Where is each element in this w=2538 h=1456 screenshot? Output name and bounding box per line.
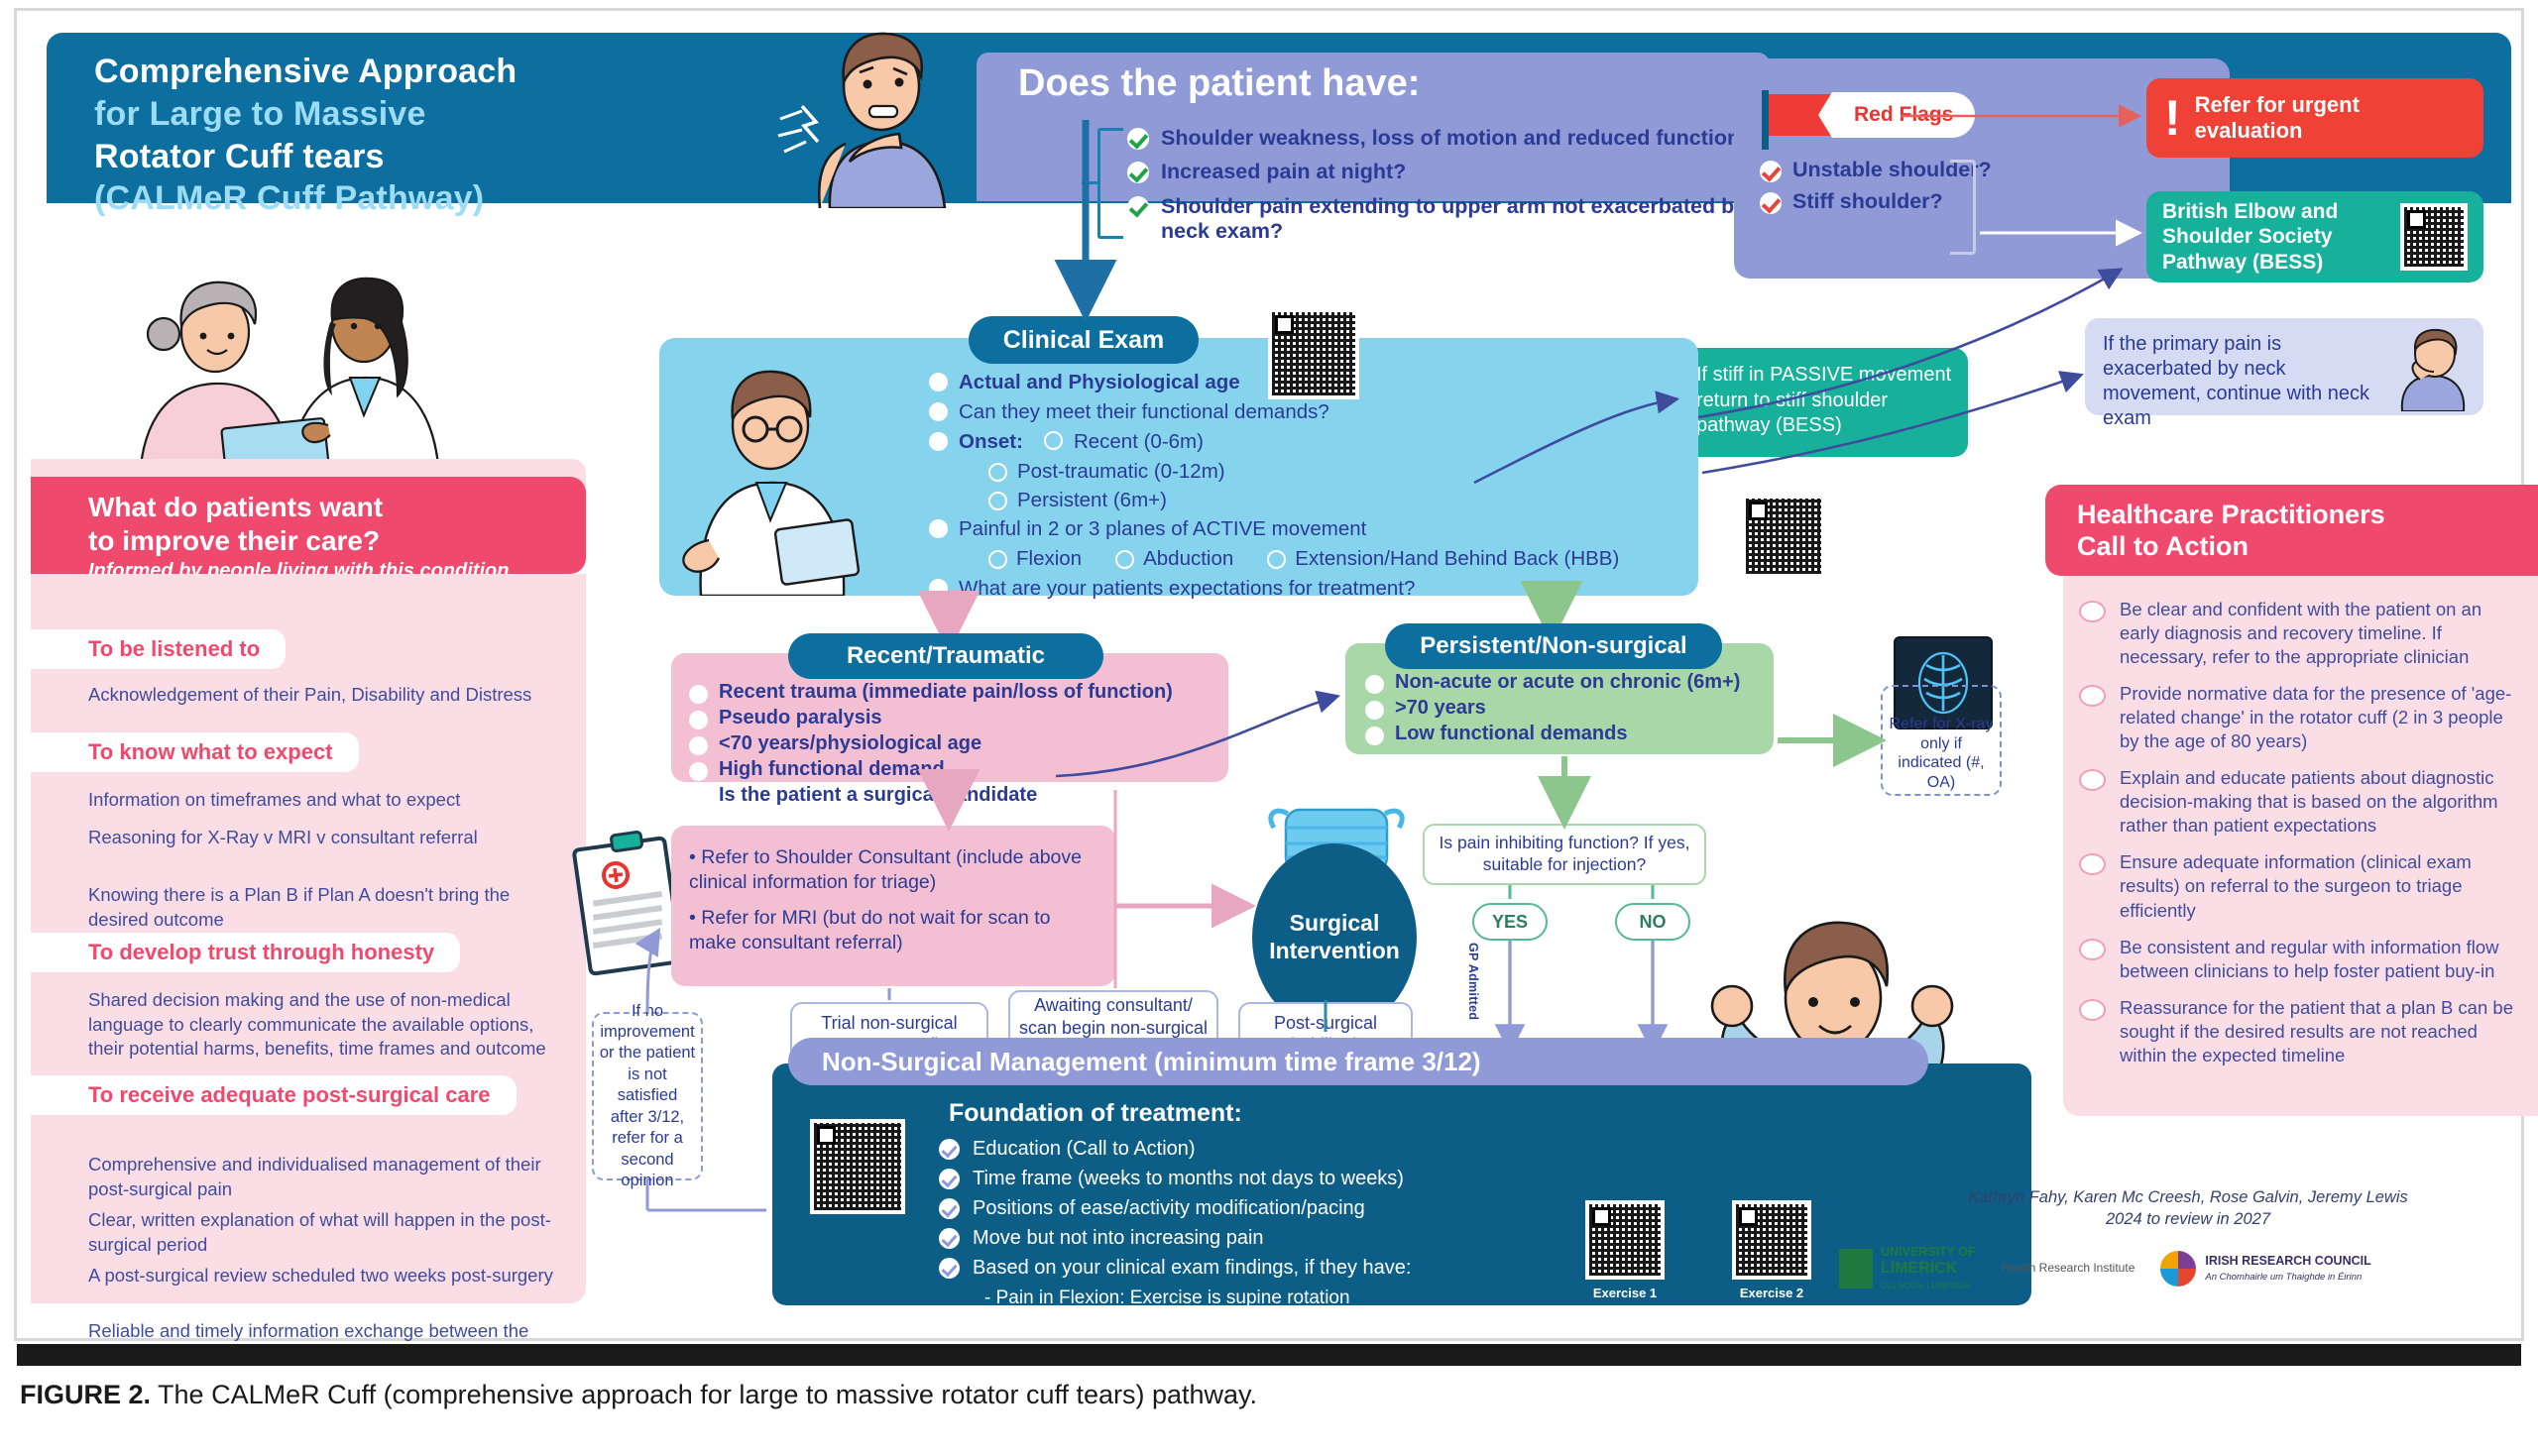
stiff-passive-label: If stiff in PASSIVE movement return to s… [1696,364,1951,436]
patients-panel-header: What do patients want to improve their c… [31,477,586,574]
hpc-item: Explain and educate patients about diagn… [2079,766,2515,838]
hpc-title-1: Healthcare Practitioners [2077,499,2538,530]
plane-label: Flexion [1016,546,1082,571]
hpc-item-label: Provide normative data for the presence … [2120,682,2515,753]
non-surgical-item-label: Move but not into increasing pain [973,1226,1264,1250]
red-flags-bracket [1950,160,1976,255]
hpc-item-label: Be clear and confident with the patient … [2120,598,2515,669]
non-surgical-item-label: Based on your clinical exam findings, if… [973,1256,1411,1280]
bullet-icon [689,762,708,781]
check-icon [939,1198,960,1219]
movement-planes: Flexion Abduction Extension/Hand Behind … [988,546,1682,571]
no-label: NO [1640,912,1667,933]
bullet-icon [929,579,948,598]
question-bracket [1097,128,1123,239]
clinical-exam-item: Actual and Physiological age [929,370,1682,394]
recent-traumatic-item: Pseudo paralysis [689,707,1228,729]
neck-pain-illustration [2390,326,2476,411]
red-flags-label: Red Flags [1818,92,1975,138]
qr-code-bess[interactable] [2400,203,2468,271]
recent-traumatic-label: <70 years/physiological age [719,732,981,755]
plane-label: Abduction [1143,546,1233,571]
health-research-institute-logo: Health Research Institute [2002,1262,2135,1276]
checkbox-icon[interactable] [2079,853,2106,875]
checkbox-icon[interactable] [2079,685,2106,707]
non-surgical-subitem: - Pain in Abduction OR HBB: Exercise is … [984,1312,1871,1339]
recent-traumatic-item: Recent trauma (immediate pain/loss of fu… [689,681,1228,704]
recent-traumatic-title: Recent/Traumatic [788,633,1103,679]
xray-referral-box: Refer for X-ray only if indicated (#, OA… [1881,685,2002,796]
hpc-title-2: Call to Action [2077,530,2538,562]
exercise-1-label: Exercise 1 [1575,1286,1674,1300]
university-of-limerick-logo: UNIVERSITY OF LIMERICK OLLSCOIL LUIMNIGH [1839,1245,1976,1291]
bullet-icon [1365,701,1384,720]
qr-code-exercise-2[interactable] [1732,1200,1811,1280]
patients-group-heading: To be listened to [31,629,286,669]
check-icon [1127,162,1149,183]
hpc-item: Ensure adequate information (clinical ex… [2079,850,2515,922]
bullet-icon [929,519,948,538]
hpc-item-label: Reassurance for the patient that a plan … [2120,996,2515,1067]
hpc-item-label: Ensure adequate information (clinical ex… [2120,850,2515,922]
clinical-exam-item: Onset: Recent (0-6m) [929,429,1682,454]
figure-frame: Comprehensive Approach for Large to Mass… [14,8,2524,1341]
clinical-exam-item: Can they meet their functional demands? [929,399,1682,424]
checkbox-icon[interactable] [2079,769,2106,791]
clinical-exam-item-label: Actual and Physiological age [959,370,1240,394]
bullet-icon [929,402,948,421]
patients-group-item: A post-surgical review scheduled two wee… [88,1264,554,1288]
patients-panel-title-2: to improve their care? [88,524,586,558]
non-surgical-management-title: Non-Surgical Management (minimum time fr… [788,1038,1928,1085]
check-icon [939,1258,960,1279]
persistent-item: Low functional demands [1365,723,1774,745]
foundation-heading: Foundation of treatment: [949,1099,1242,1128]
patients-group-heading: To know what to expect [31,732,359,772]
figure-caption: FIGURE 2. The CALMeR Cuff (comprehensive… [20,1380,2498,1410]
logo-row: UNIVERSITY OF LIMERICK OLLSCOIL LUIMNIGH… [1839,1238,2454,1299]
onset-option-label: Recent (0-6m) [1074,429,1204,454]
bullet-icon [689,736,708,755]
check-icon [939,1139,960,1160]
title-line-1: Comprehensive Approach [94,53,517,90]
ul-crest-icon [1839,1249,1873,1288]
persistent-label: Low functional demands [1395,723,1627,745]
recent-traumatic-label: Is the patient a surgical candidate [719,784,1037,807]
referral-box: • Refer to Shoulder Consultant (include … [671,826,1115,986]
hpc-item: Reassurance for the patient that a plan … [2079,996,2515,1067]
urgent-referral-box: ! Refer for urgent evaluation [2146,78,2483,158]
ul-line-2: LIMERICK [1881,1260,1957,1277]
ul-line-1: UNIVERSITY OF [1881,1245,1976,1259]
irc-line-2: An Chomhairle um Thaighde in Éirinn [2205,1272,2362,1283]
persistent-label: Non-acute or acute on chronic (6m+) [1395,671,1740,694]
recent-traumatic-label: Recent trauma (immediate pain/loss of fu… [719,681,1173,704]
plane-label: Extension/Hand Behind Back (HBB) [1295,546,1619,571]
check-icon [939,1228,960,1249]
question-item: Increased pain at night? [1127,160,1762,184]
recent-traumatic-label: High functional demand [719,758,945,781]
credits: Kathryn Fahy, Karen Mc Creesh, Rose Galv… [1930,1186,2446,1231]
check-icon [1760,161,1782,182]
clinical-exam-item-label: What are your patients expectations for … [959,576,1415,601]
hpc-item: Provide normative data for the presence … [2079,682,2515,753]
hpc-item-label: Be consistent and regular with informati… [2120,936,2515,983]
patients-group-item: Clear, written explanation of what will … [88,1208,554,1257]
bullet-icon [929,432,948,451]
radio-icon[interactable] [988,492,1007,510]
referral-item-label: Refer for MRI (but do not wait for scan … [689,907,1050,953]
checkbox-icon[interactable] [2079,601,2106,622]
plane-option: Extension/Hand Behind Back (HBB) [1267,546,1619,571]
hpc-panel-body: Be clear and confident with the patient … [2063,576,2538,1116]
ul-line-3: OLLSCOIL LUIMNIGH [1881,1281,1970,1290]
onset-option: Persistent (6m+) [988,488,1682,512]
gp-admitted-label: GP Admitted [1466,943,1480,1020]
patients-group-item: Information on timeframes and what to ex… [88,788,554,813]
non-surgical-item-label: Education (Call to Action) [973,1137,1196,1161]
credits-year: 2024 to review in 2027 [1930,1208,2446,1230]
patients-group-heading: To receive adequate post-surgical care [31,1075,517,1115]
radio-icon[interactable] [1044,431,1063,450]
referral-item: • Refer for MRI (but do not wait for sca… [689,906,1099,955]
recent-traumatic-item: <70 years/physiological age [689,732,1228,755]
onset-option-label: Persistent (6m+) [1017,488,1167,512]
patients-group-heading: To develop trust through honesty [31,933,460,972]
bullet-icon [1365,727,1384,745]
hpc-panel-header: Healthcare Practitioners Call to Action [2045,485,2538,576]
checkbox-icon[interactable] [2079,939,2106,960]
referral-item: • Refer to Shoulder Consultant (include … [689,845,1099,895]
clinician-illustration [661,326,879,596]
injection-question-box: Is pain inhibiting function? If yes, sui… [1423,824,1706,885]
irc-line-1: IRISH RESEARCH COUNCIL [2205,1254,2370,1268]
exercise-2-label: Exercise 2 [1722,1286,1821,1300]
recent-traumatic-label: Pseudo paralysis [719,707,882,729]
second-opinion-box: If no improvement or the patient is not … [592,1012,703,1180]
patient-shoulder-pain-illustration [750,25,1008,208]
question-list: Shoulder weakness, loss of motion and re… [1127,126,1762,253]
title-line-2: for Large to Massive [94,95,426,133]
page-title: Comprehensive Approach for Large to Mass… [94,51,729,220]
question-item-label: Increased pain at night? [1161,160,1406,184]
question-item-label: Shoulder pain extending to upper arm not… [1161,194,1762,245]
non-surgical-item: Based on your clinical exam findings, if… [939,1256,1871,1280]
referral-item-label: Refer to Shoulder Consultant (include ab… [689,846,1082,893]
surgical-intervention-label: Surgical Intervention [1252,910,1417,964]
non-surgical-item: Education (Call to Action) [939,1137,1871,1161]
urgent-referral-label: Refer for urgent evaluation [2195,92,2466,145]
non-surgical-item-label: Positions of ease/activity modification/… [973,1196,1365,1220]
credits-authors: Kathryn Fahy, Karen Mc Creesh, Rose Galv… [1930,1186,2446,1208]
xray-referral-label: Refer for X-ray only if indicated (#, OA… [1890,716,1994,791]
question-panel-title: Does the patient have: [1018,62,1534,105]
bess-pathway-label: British Elbow and Shoulder Society Pathw… [2162,199,2390,276]
yes-label: YES [1492,912,1528,933]
qr-code-non-surgical[interactable] [810,1119,905,1214]
second-opinion-label: If no improvement or the patient is not … [599,1001,696,1192]
irish-research-council-logo: IRISH RESEARCH COUNCIL An Chomhairle um … [2160,1251,2370,1287]
non-surgical-item: Move but not into increasing pain [939,1226,1871,1250]
check-icon [1127,196,1149,218]
infographic-page: Comprehensive Approach for Large to Mass… [0,0,2538,1445]
persistent-title: Persistent/Non-surgical [1385,623,1722,669]
qr-code-active-movement[interactable] [1742,495,1825,578]
question-item-label: Shoulder weakness, loss of motion and re… [1161,126,1753,151]
bullet-icon [689,788,708,807]
check-icon [1127,128,1149,150]
check-icon [939,1169,960,1189]
patients-group-item: Comprehensive and individualised managem… [88,1153,554,1201]
bullet-icon [1365,675,1384,694]
persistent-item: Non-acute or acute on chronic (6m+) [1365,671,1774,694]
bess-pathway-box: British Elbow and Shoulder Society Pathw… [2146,191,2483,282]
plane-option: Abduction [1115,546,1233,571]
onset-option-label: Post-traumatic (0-12m) [1017,459,1225,484]
hpc-item-label: Explain and educate patients about diagn… [2120,766,2515,838]
figure-label: FIGURE 2. [20,1380,151,1409]
recent-traumatic-item: High functional demand [689,758,1228,781]
persistent-item: >70 years [1365,697,1774,720]
question-item: Shoulder weakness, loss of motion and re… [1127,126,1762,151]
non-surgical-item-label: Time frame (weeks to months not days to … [973,1167,1404,1190]
checkbox-icon[interactable] [2079,999,2106,1021]
black-divider-bar [17,1344,2521,1366]
clinical-exam-item: What are your patients expectations for … [929,576,1682,601]
hpc-item: Be consistent and regular with informati… [2079,936,2515,983]
figure-caption-text: The CALMeR Cuff (comprehensive approach … [158,1380,1257,1409]
radio-icon[interactable] [988,550,1007,569]
clinical-exam-item-label: Can they meet their functional demands? [959,399,1329,424]
patients-group-item: Knowing there is a Plan B if Plan A does… [88,883,554,932]
title-line-4: (CALMeR Cuff Pathway) [94,179,484,217]
clinical-exam-list: Actual and Physiological age Can they me… [929,370,1682,606]
patients-group-item: Shared decision making and the use of no… [88,988,554,1062]
injection-question-label: Is pain inhibiting function? If yes, sui… [1429,833,1700,875]
clinical-exam-item-label: Painful in 2 or 3 planes of ACTIVE movem… [959,516,1366,541]
persistent-label: >70 years [1395,697,1486,720]
stiff-passive-box: If stiff in PASSIVE movement return to s… [1680,348,1968,457]
yes-pill[interactable]: YES [1472,903,1548,941]
bullet-icon [929,373,948,392]
patients-group-item: Acknowledgement of their Pain, Disabilit… [88,683,554,708]
patients-panel-title-1: What do patients want [88,491,586,524]
onset-option: Post-traumatic (0-12m) [988,459,1682,484]
radio-icon[interactable] [988,463,1007,482]
question-bracket-stub [1082,181,1099,184]
check-icon [1760,192,1782,214]
radio-icon[interactable] [1115,550,1134,569]
non-surgical-item: Time frame (weeks to months not days to … [939,1167,1871,1190]
clinical-exam-item-label: Onset: [959,429,1023,454]
hpc-item: Be clear and confident with the patient … [2079,598,2515,669]
question-item: Shoulder pain extending to upper arm not… [1127,194,1762,245]
red-flag-label: Stiff shoulder? [1792,189,1943,214]
flag-pole [1762,90,1769,150]
non-surgical-item: Positions of ease/activity modification/… [939,1196,1871,1220]
clinical-exam-item: Painful in 2 or 3 planes of ACTIVE movem… [929,516,1682,541]
bullet-icon [689,685,708,704]
exclamation-icon: ! [2164,98,2181,139]
recent-traumatic-item: Is the patient a surgical candidate [689,784,1228,807]
radio-icon[interactable] [1267,550,1286,569]
clinical-exam-title: Clinical Exam [969,316,1199,364]
plane-option: Flexion [988,546,1082,571]
non-surgical-list: Education (Call to Action) Time frame (w… [939,1137,1871,1374]
bullet-icon [689,711,708,729]
title-line-3: Rotator Cuff tears [94,138,385,175]
patients-group-item: Reasoning for X-Ray v MRI v consultant r… [88,826,554,850]
neck-exam-label: If the primary pain is exacerbated by ne… [2103,333,2369,429]
qr-code-exercise-1[interactable] [1585,1200,1665,1280]
irc-emblem-icon [2160,1251,2196,1287]
